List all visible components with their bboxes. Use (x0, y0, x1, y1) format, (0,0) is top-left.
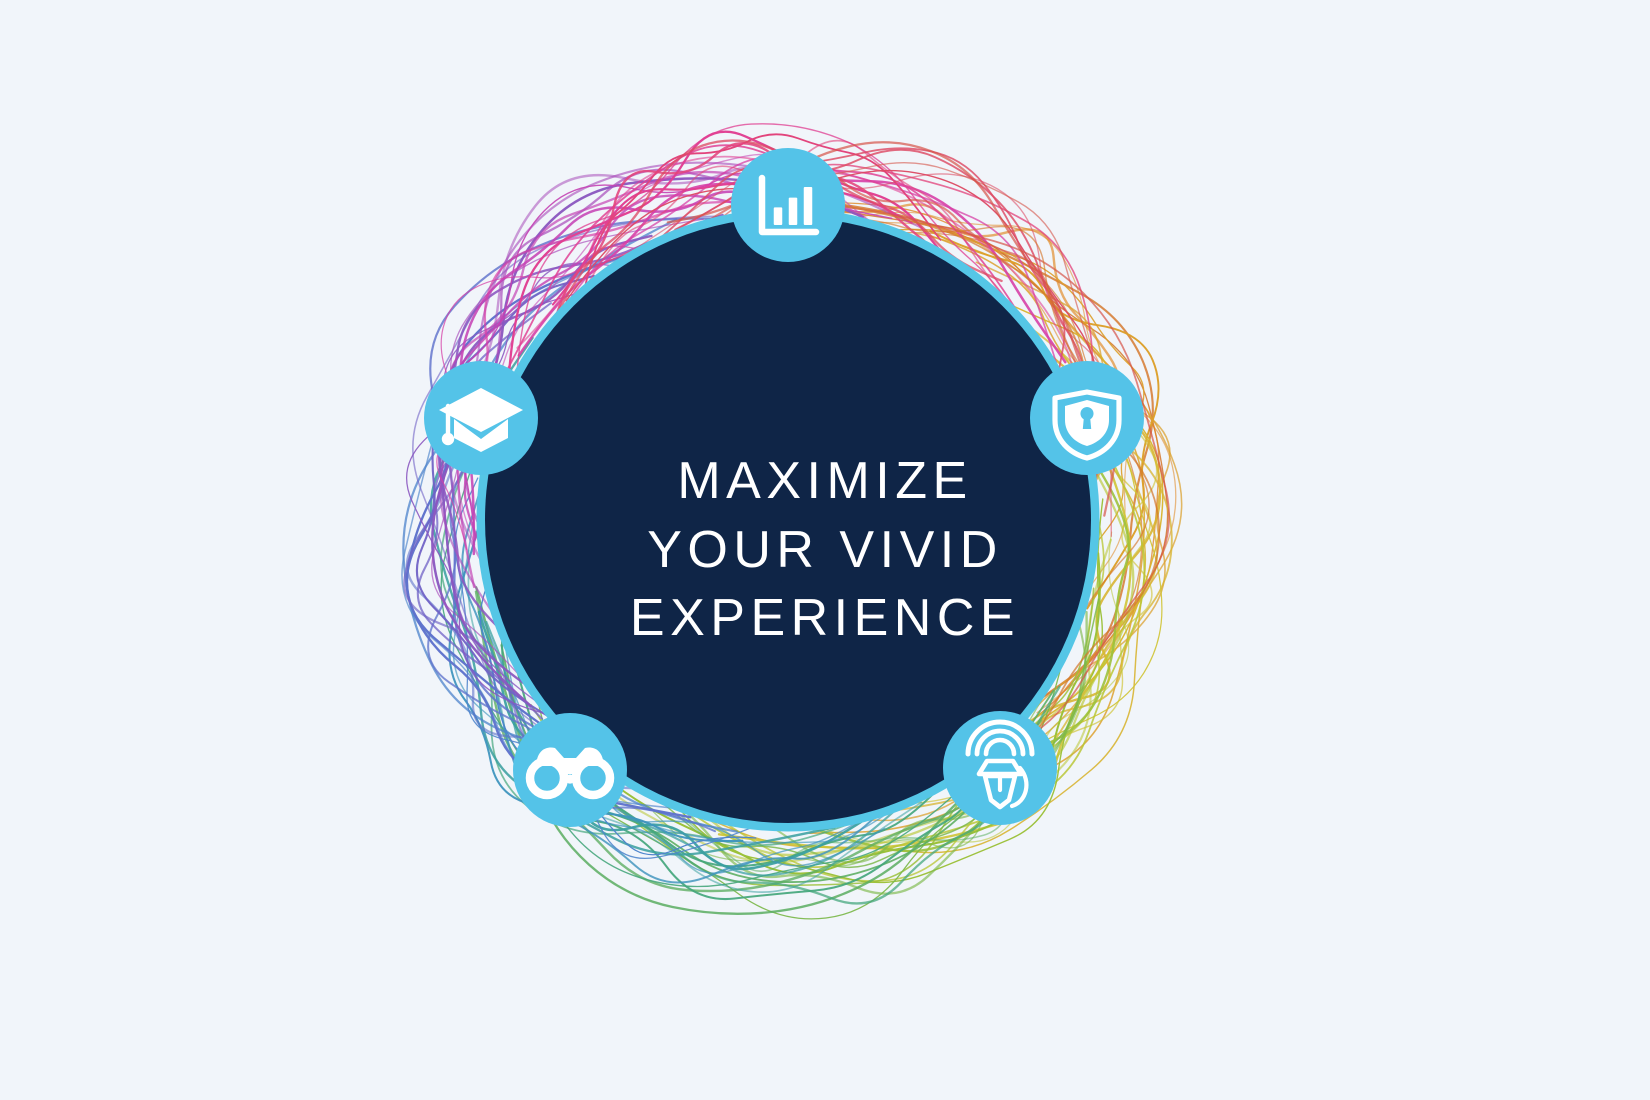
composition-svg (0, 0, 1650, 1100)
broadcast-beacon-icon[interactable] (943, 711, 1057, 825)
binoculars-icon[interactable] (513, 713, 627, 827)
shield-lock-icon[interactable] (1030, 361, 1144, 475)
graduation-cap-icon[interactable] (424, 361, 538, 475)
bar-chart-icon[interactable] (731, 148, 845, 262)
poster-canvas: MAXIMIZE YOUR VIVID EXPERIENCE (0, 0, 1650, 1100)
